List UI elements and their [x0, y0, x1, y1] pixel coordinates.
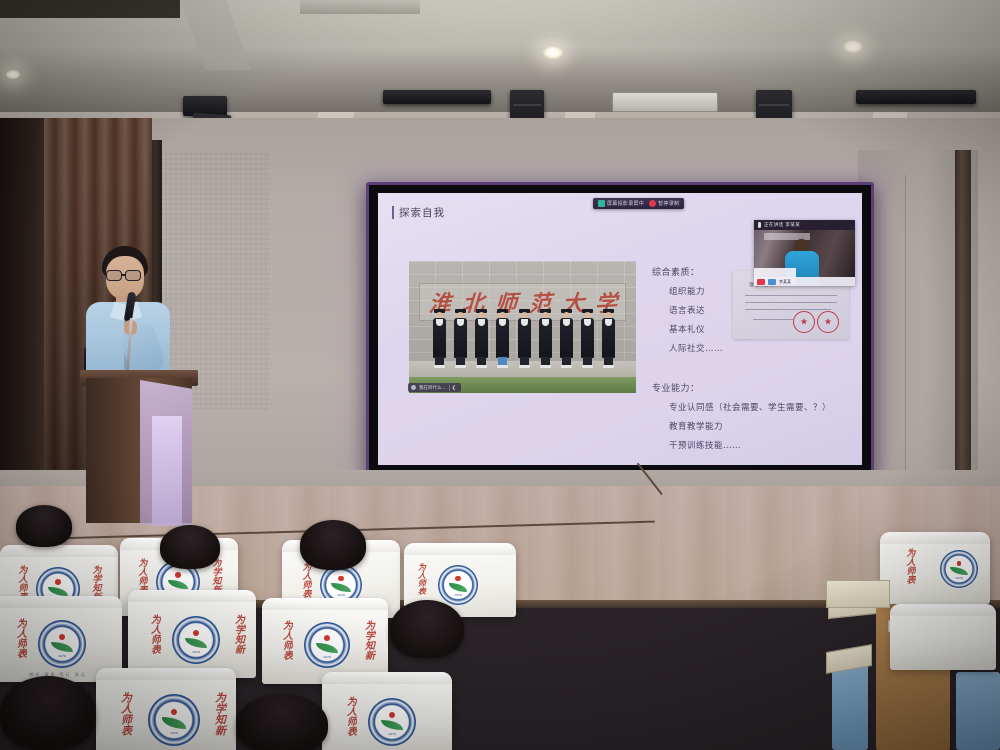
ceiling-shadow-gap [0, 0, 180, 18]
university-emblem: 1979 [38, 620, 86, 668]
university-emblem: 1979 [304, 622, 350, 668]
slide-text-block-1: 综合素质： 组织能力 语言表达 基本礼仪 人际社交…… [652, 265, 723, 361]
ceiling-speaker-bar [856, 90, 976, 104]
graduation-photo: 淮 北 师 范 大 学 [409, 261, 636, 393]
eyeglasses-icon [125, 270, 141, 281]
graduate-figure [558, 309, 575, 369]
emblem-year: 1979 [312, 655, 341, 659]
emblem-year: 1979 [445, 593, 471, 597]
chair-calligraphy: 为人师表 [14, 618, 25, 658]
pause-recording-chip[interactable]: 暂停录制 [649, 200, 679, 207]
ceiling-beam [300, 0, 420, 14]
mute-icon[interactable] [768, 279, 776, 285]
chair-calligraphy: 为人师表 [904, 548, 913, 584]
university-emblem: 1979 [148, 694, 200, 746]
ceiling-speaker-bar [383, 90, 491, 104]
pause-recording-label: 暂停录制 [658, 200, 679, 207]
audience-head [236, 694, 328, 750]
eyeglasses-bridge [122, 274, 126, 276]
graduate-figure [473, 309, 490, 369]
folding-desk [826, 580, 890, 608]
record-dot-icon [649, 200, 656, 207]
chair-calligraphy: 为人师表 [136, 558, 145, 594]
emblem-year: 1979 [377, 732, 408, 736]
wall-seam [905, 175, 906, 475]
media-prev-button[interactable]: ❮ [449, 385, 458, 391]
graduate-figure [494, 309, 511, 369]
page-title: 探索自我 [399, 205, 445, 220]
video-speaker-label: 正在讲话 李某某 [764, 222, 800, 228]
video-participant-name: 李某某 [779, 279, 791, 285]
recording-status-chip[interactable]: 屏幕投影录屏中 [598, 200, 644, 207]
university-emblem: 1979 [172, 616, 220, 664]
block-item: 教育教学能力 [652, 420, 831, 432]
media-label: 我在听什么... [419, 385, 446, 391]
emblem-year: 1979 [947, 576, 971, 580]
block-item: 语言表达 [652, 304, 723, 316]
graduate-figure [537, 309, 554, 369]
graduate-figure [600, 309, 617, 369]
ceiling-downlight [543, 46, 563, 59]
video-call-controls[interactable]: 李某某 [754, 277, 855, 286]
chair-calligraphy: 为人师表 [148, 614, 159, 654]
video-call-header: 正在讲话 李某某 [754, 220, 855, 230]
slide-text-block-2: 专业能力： 专业认同感（社会需要、学生需要、？） 教育教学能力 干预训练技能…… [652, 381, 831, 458]
presenter [72, 246, 188, 386]
play-icon[interactable] [411, 385, 416, 390]
eyeglasses-icon [106, 270, 122, 281]
graduate-figure [516, 309, 533, 369]
official-seal [793, 311, 815, 333]
block-item: 组织能力 [652, 285, 723, 297]
emblem-year: 1979 [181, 650, 212, 654]
audience-head [16, 505, 72, 547]
audience-chair: 1979 为人师表 [322, 672, 452, 750]
chair-calligraphy: 为人师表 [418, 563, 426, 595]
audience-chair: 1979 为人师表 为学知新 [128, 590, 256, 678]
slide-title-group: 探索自我 [392, 205, 445, 220]
graduate-figure [431, 309, 448, 369]
block-item: 专业认同感（社会需要、学生需要、？） [652, 401, 831, 413]
auditorium-seat-side [956, 672, 1000, 750]
auditorium-scene: 探索自我 屏幕投影录屏中 暂停录制 淮 北 师 [0, 0, 1000, 750]
block-item: 干预训练技能…… [652, 439, 831, 451]
presentation-slide: 探索自我 屏幕投影录屏中 暂停录制 淮 北 师 [378, 193, 862, 465]
emblem-year: 1979 [47, 654, 78, 658]
block-heading: 综合素质： [652, 265, 723, 278]
curtain-dark-edge [0, 118, 44, 513]
media-player-controls[interactable]: 我在听什么... ❮ [408, 383, 461, 392]
block-item: 人际社交…… [652, 342, 723, 354]
screen-recording-toolbar[interactable]: 屏幕投影录屏中 暂停录制 [593, 198, 684, 209]
chair-calligraphy: 为人师表 [280, 620, 291, 660]
emblem-year: 1979 [157, 731, 190, 735]
audience-head [390, 600, 464, 658]
audience-head [300, 520, 366, 570]
university-emblem: 1979 [368, 698, 416, 746]
graduates-row [431, 303, 617, 369]
graduate-figure [579, 309, 596, 369]
auditorium-seat-side [832, 660, 868, 750]
university-emblem: 1979 [438, 565, 478, 605]
chair-calligraphy: 为学知新 [214, 692, 226, 736]
hangup-icon[interactable] [757, 279, 765, 285]
chair-calligraphy: 为人师表 [120, 692, 132, 736]
chair-calligraphy: 为学知新 [232, 614, 243, 654]
official-seal [817, 311, 839, 333]
chair-calligraphy: 为学知新 [362, 620, 373, 660]
wall-display[interactable]: 探索自我 屏幕投影录屏中 暂停录制 淮 北 师 [366, 182, 874, 476]
block-heading: 专业能力： [652, 381, 831, 394]
ceiling-downlight [843, 40, 863, 53]
audience-head [160, 525, 220, 569]
title-accent-bar [392, 206, 394, 219]
wall-trim-strip [955, 150, 971, 506]
podium-lit-column [152, 416, 182, 526]
emblem-year: 1979 [328, 593, 355, 597]
audience-chair: 1979 为人师表 为学知新 [96, 668, 236, 750]
screen-record-icon [598, 200, 605, 207]
video-call-thumbnail[interactable]: 正在讲话 李某某 李某某 [754, 220, 855, 286]
ceiling-downlight [6, 70, 20, 79]
mic-icon [758, 222, 761, 228]
graduate-figure [452, 309, 469, 369]
recording-status-label: 屏幕投影录屏中 [607, 200, 644, 207]
block-item: 基本礼仪 [652, 323, 723, 335]
chair-calligraphy: 为人师表 [300, 562, 309, 598]
audience-head [0, 676, 96, 750]
audience-chair [890, 604, 996, 670]
chair-calligraphy: 为人师表 [344, 696, 355, 736]
audience-chair: 1979 为人师表 [880, 532, 990, 604]
university-emblem: 1979 [940, 550, 978, 588]
ceiling-projector [612, 92, 718, 112]
